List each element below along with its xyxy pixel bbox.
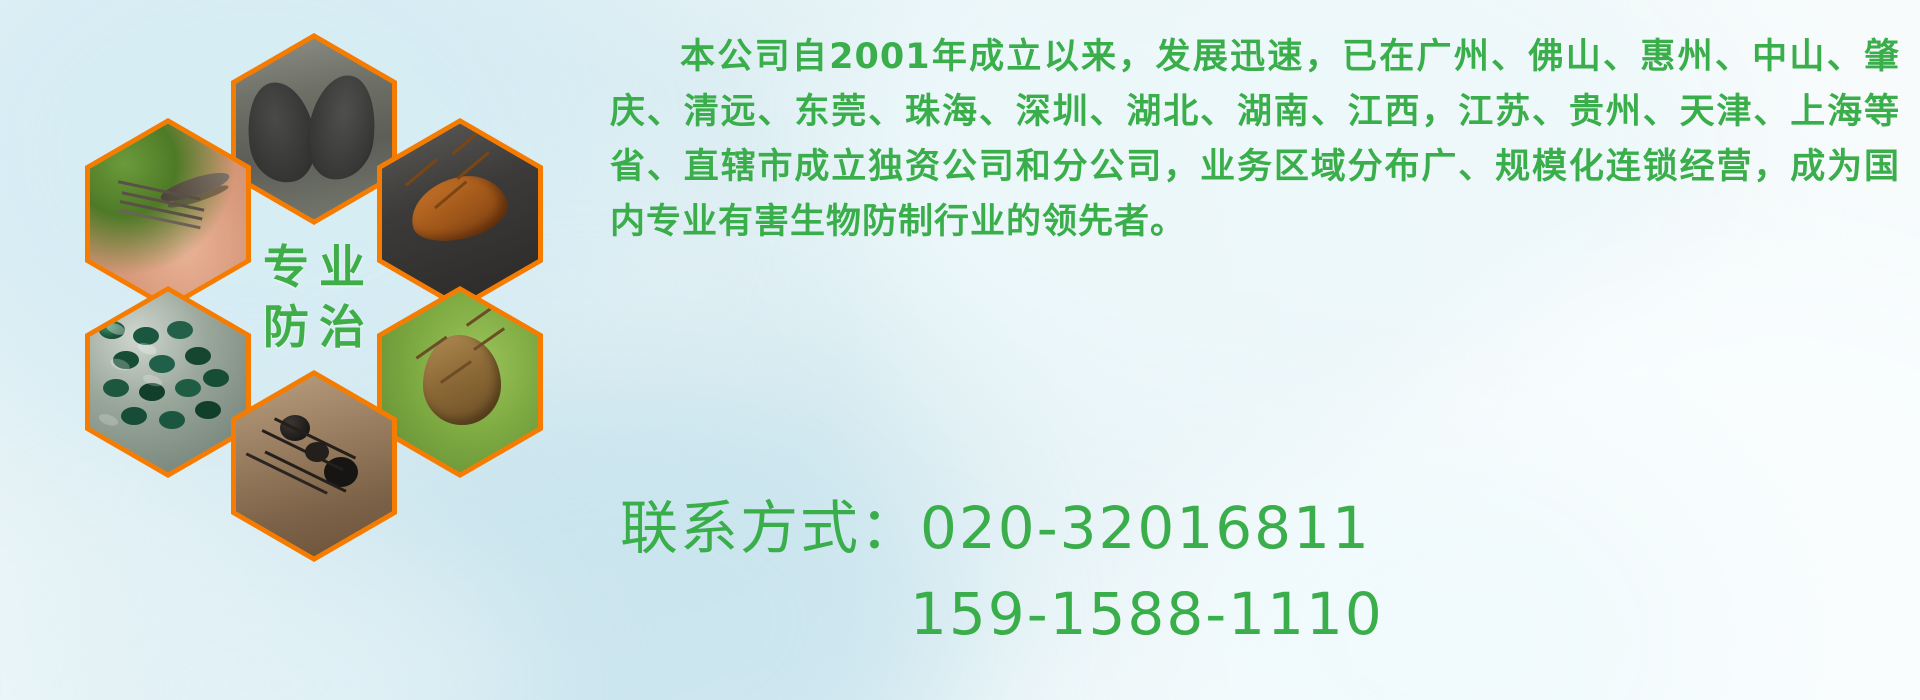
hex-inner-rats <box>236 39 392 220</box>
pest-control-banner: 专业 防治 本公司自2001年成立以来，发展迅速，已在广州、佛山、惠州、中山、肇… <box>0 0 1920 700</box>
contact-phone-mobile[interactable]: 159-1588-1110 <box>620 571 1920 657</box>
hex-cell-stinkbug <box>377 286 543 478</box>
stink-bug-photo <box>382 292 538 473</box>
hex-inner-ant <box>236 376 392 557</box>
hex-cell-cockroach <box>377 118 543 310</box>
hex-inner-cockroach <box>382 124 538 305</box>
contact-phone-landline[interactable]: 联系方式：020-32016811 <box>620 485 1920 571</box>
hex-cell-ant <box>231 370 397 562</box>
mosquito-photo <box>90 124 246 305</box>
hex-inner-flies <box>90 292 246 473</box>
hex-inner-stinkbug <box>382 292 538 473</box>
badge-line-1: 专业 <box>253 244 375 290</box>
rats-photo <box>236 39 392 220</box>
hex-cell-rats <box>231 33 397 225</box>
hex-inner-mosquito <box>90 124 246 305</box>
badge-专业防治: 专业 防治 <box>231 201 397 393</box>
ant-photo <box>236 376 392 557</box>
cockroach-photo <box>382 124 538 305</box>
contact-block: 联系方式：020-32016811 159-1588-1110 <box>620 485 1920 657</box>
hexagon-photo-cluster: 专业 防治 <box>85 8 585 568</box>
hex-cell-flies <box>85 286 251 478</box>
badge-line-2: 防治 <box>253 304 375 350</box>
flies-photo <box>90 292 246 473</box>
company-intro-paragraph: 本公司自2001年成立以来，发展迅速，已在广州、佛山、惠州、中山、肇庆、清远、东… <box>610 30 1900 250</box>
hex-cell-mosquito <box>85 118 251 310</box>
copy-column: 本公司自2001年成立以来，发展迅速，已在广州、佛山、惠州、中山、肇庆、清远、东… <box>610 30 1900 250</box>
